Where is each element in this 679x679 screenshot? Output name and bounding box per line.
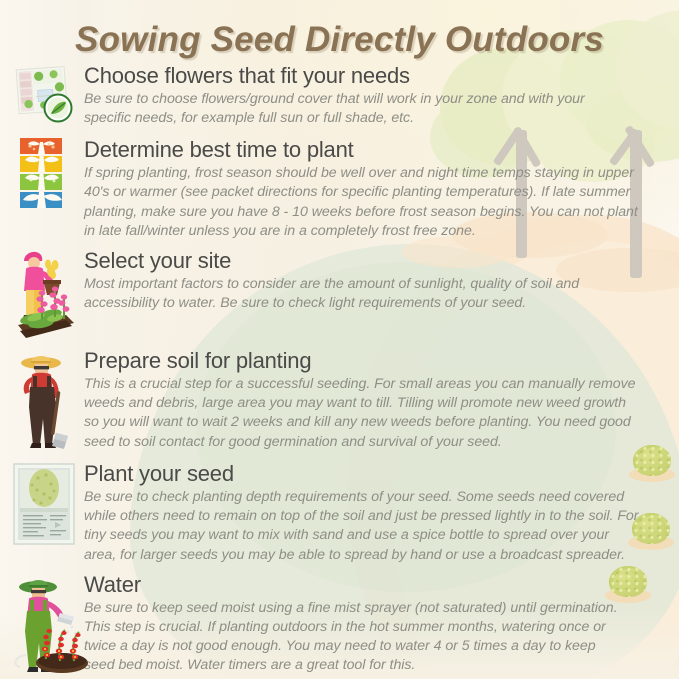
steps-list: Choose flowers that fit your needs Be su… (0, 62, 679, 676)
step-item: Prepare soil for planting This is a cruc… (0, 347, 679, 452)
step-description: Be sure to check planting depth requirem… (84, 488, 639, 565)
step-body: Prepare soil for planting This is a cruc… (82, 347, 663, 452)
step-description: If spring planting, frost season should … (84, 164, 651, 241)
gardener-watering-icon (10, 571, 82, 675)
step-heading: Plant your seed (84, 462, 639, 487)
step-item: Choose flowers that fit your needs Be su… (0, 62, 679, 128)
step-heading: Determine best time to plant (84, 138, 651, 163)
step-description: Be sure to keep seed moist using a fine … (84, 599, 623, 676)
step-item: Water Be sure to keep seed moist using a… (0, 571, 679, 676)
step-heading: Choose flowers that fit your needs (84, 64, 633, 89)
gardener-with-shovel-icon (10, 347, 82, 451)
step-body: Select your site Most important factors … (82, 247, 663, 313)
infographic-poster: Sowing Seed Directly Outdoors (0, 0, 679, 679)
garden-plan-map-icon (10, 62, 82, 128)
step-description: Be sure to choose flowers/ground cover t… (84, 90, 633, 129)
four-seasons-icon (10, 136, 82, 212)
step-item: Determine best time to plant If spring p… (0, 136, 679, 241)
step-body: Determine best time to plant If spring p… (82, 136, 663, 241)
step-body: Plant your seed Be sure to check plantin… (82, 460, 663, 565)
step-description: This is a crucial step for a successful … (84, 375, 641, 452)
gardener-with-flowers-icon (10, 247, 82, 339)
step-heading: Water (84, 573, 623, 598)
step-body: Water Be sure to keep seed moist using a… (82, 571, 663, 676)
step-item: Plant your seed Be sure to check plantin… (0, 460, 679, 565)
step-heading: Prepare soil for planting (84, 349, 641, 374)
step-description: Most important factors to consider are t… (84, 275, 583, 314)
step-body: Choose flowers that fit your needs Be su… (82, 62, 663, 128)
step-item: Select your site Most important factors … (0, 247, 679, 339)
step-heading: Select your site (84, 249, 583, 274)
seed-packet-icon (10, 460, 82, 548)
page-title: Sowing Seed Directly Outdoors (0, 20, 679, 60)
